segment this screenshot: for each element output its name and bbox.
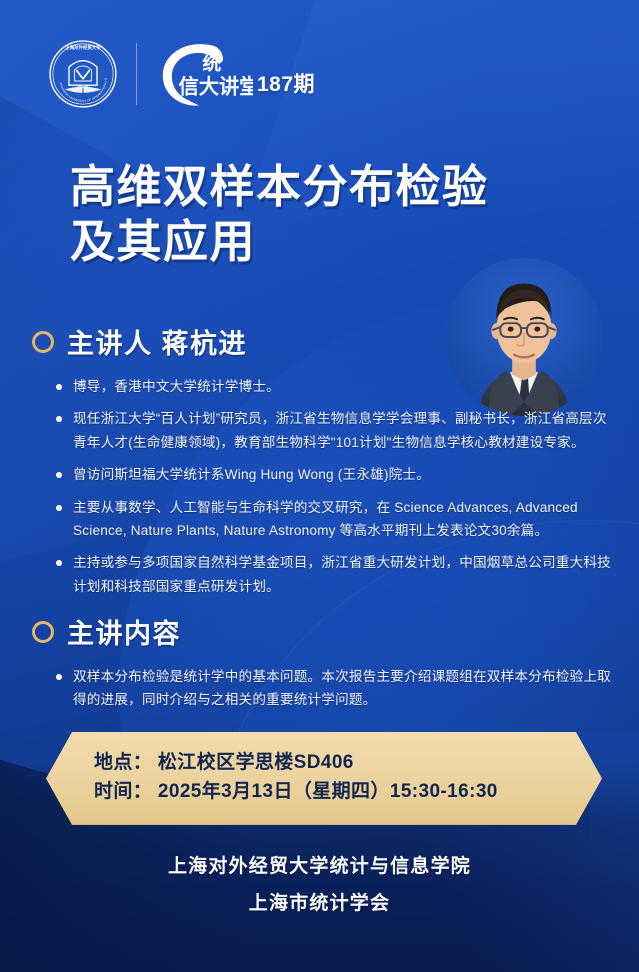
title-line-2: 及其应用 [70,215,489,270]
list-item: 现任浙江大学“百人计划”研究员，浙江省生物信息学学会理事、副秘书长，浙江省高层次… [56,407,611,454]
svg-text:上海对外经贸大学: 上海对外经贸大学 [65,44,101,51]
list-item: 博导，香港中文大学统计学博士。 [56,375,611,398]
section-content-header: 主讲内容 [32,612,611,651]
issue-number: 187期 [257,68,315,98]
list-item: 曾访问斯坦福大学统计系Wing Hung Wong (王永雄)院士。 [56,463,611,486]
svg-text:1960: 1960 [78,85,89,91]
section-speaker: 主讲人 蒋杭进 博导，香港中文大学统计学博士。 现任浙江大学“百人计划”研究员，… [32,322,611,607]
list-item: 主持或参与多项国家自然科学基金项目，浙江省重大研发计划，中国烟草总公司重大科技计… [56,551,611,598]
brush-circle-icon: 统 信大讲堂 [155,38,253,110]
lecture-brand: 统 信大讲堂 187期 [155,38,315,110]
poster-footer: 上海对外经贸大学统计与信息学院 上海市统计学会 [0,848,639,922]
section-content-title: 主讲内容 [67,612,181,651]
enso-char: 统 [203,52,222,74]
speaker-bio-list: 博导，香港中文大学统计学博士。 现任浙江大学“百人计划”研究员，浙江省生物信息学… [32,375,611,598]
page-title: 高维双样本分布检验 及其应用 [70,160,489,270]
section-speaker-title: 主讲人 蒋杭进 [67,322,247,361]
title-line-1: 高维双样本分布检验 [70,160,489,215]
footer-organizer-2: 上海市统计学会 [0,885,639,922]
gold-ring-icon [32,621,54,643]
content-abstract-list: 双样本分布检验是统计学中的基本问题。本次报告主要介绍课题组在双样本分布检验上取得… [32,665,611,712]
section-content: 主讲内容 双样本分布检验是统计学中的基本问题。本次报告主要介绍课题组在双样本分布… [32,612,611,721]
footer-organizer-1: 上海对外经贸大学统计与信息学院 [0,848,639,885]
event-location: 地点： 松江校区学思楼SD406 [94,748,580,777]
event-info-banner: 地点： 松江校区学思楼SD406 时间： 2025年3月13日（星期四）15:3… [46,732,602,825]
section-speaker-header: 主讲人 蒋杭进 [32,322,611,361]
gold-ring-icon [32,331,54,353]
brand-name: 信大讲堂 [179,75,254,99]
header-divider [136,43,137,105]
poster-root: 1960 上海对外经贸大学 SHANGHAI UNIVERSITY OF INT… [0,0,639,972]
list-item: 双样本分布检验是统计学中的基本问题。本次报告主要介绍课题组在双样本分布检验上取得… [56,665,611,712]
event-time: 时间： 2025年3月13日（星期四）15:30-16:30 [94,777,580,806]
poster-header: 1960 上海对外经贸大学 SHANGHAI UNIVERSITY OF INT… [48,38,315,110]
list-item: 主要从事数学、人工智能与生命科学的交叉研究，在 Science Advances… [56,496,611,543]
university-seal-icon: 1960 上海对外经贸大学 SHANGHAI UNIVERSITY OF INT… [48,39,118,109]
